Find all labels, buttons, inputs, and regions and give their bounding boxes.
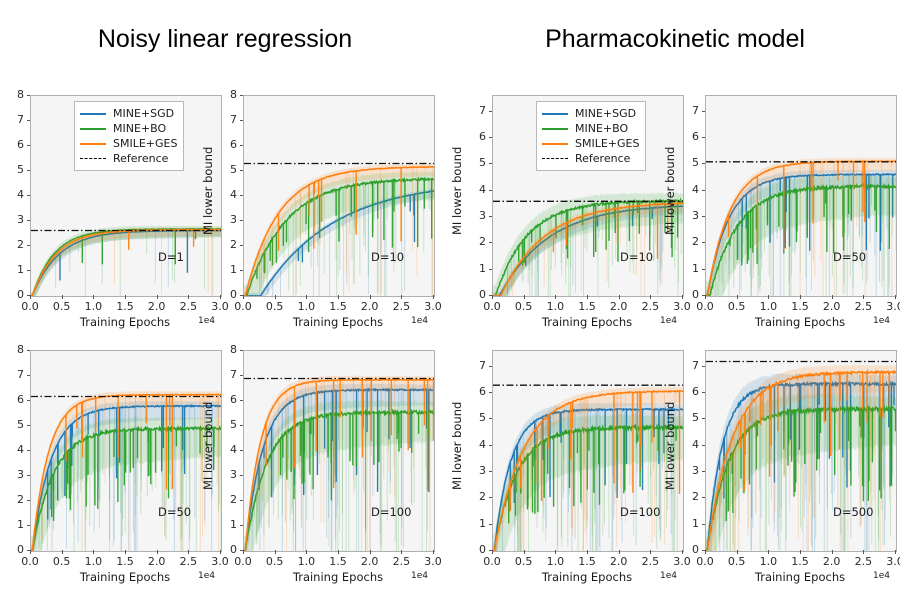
x-tick-label: 0.0 bbox=[690, 555, 720, 568]
x-axis-label: Training Epochs bbox=[243, 570, 433, 584]
y-tick-label: 6 bbox=[679, 130, 699, 143]
y-tick-mark bbox=[702, 111, 706, 112]
curves-layer bbox=[706, 351, 896, 551]
y-tick-mark bbox=[702, 216, 706, 217]
x-tick-label: 1.0 bbox=[753, 555, 783, 568]
y-tick-mark bbox=[240, 145, 244, 146]
x-tick-label: 1.5 bbox=[323, 555, 353, 568]
group-title-noisy-linear-regression: Noisy linear regression bbox=[0, 25, 450, 54]
x-tick-label: 1.0 bbox=[540, 300, 570, 313]
x-tick-mark bbox=[157, 550, 158, 554]
y-tick-label: 4 bbox=[217, 443, 237, 456]
x-tick-label: 1.0 bbox=[753, 300, 783, 313]
y-tick-label: 4 bbox=[466, 183, 486, 196]
y-tick-label: 7 bbox=[679, 359, 699, 372]
x-tick-label: 2.5 bbox=[635, 555, 665, 568]
y-tick-label: 5 bbox=[4, 163, 24, 176]
x-tick-label: 1.0 bbox=[291, 555, 321, 568]
y-axis-label: MI lower bound bbox=[663, 147, 677, 235]
plot-area bbox=[705, 95, 897, 297]
y-tick-mark bbox=[489, 242, 493, 243]
y-tick-mark bbox=[240, 170, 244, 171]
x-axis-label: Training Epochs bbox=[705, 570, 895, 584]
legend-swatch-icon bbox=[542, 138, 568, 149]
x-axis-label: Training Epochs bbox=[492, 315, 682, 329]
y-tick-mark bbox=[702, 366, 706, 367]
y-tick-label: 1 bbox=[217, 518, 237, 531]
y-tick-mark bbox=[27, 350, 31, 351]
legend: MINE+SGDMINE+BOSMILE+GESReference bbox=[74, 101, 184, 171]
x-tick-mark bbox=[492, 550, 493, 554]
y-tick-mark bbox=[240, 350, 244, 351]
x-tick-mark bbox=[524, 550, 525, 554]
y-tick-mark bbox=[240, 245, 244, 246]
x-tick-mark bbox=[62, 550, 63, 554]
x-tick-label: 3.0 bbox=[418, 555, 448, 568]
x-axis-exponent: 1e4 bbox=[873, 316, 890, 326]
curves-layer bbox=[493, 351, 683, 551]
y-tick-mark bbox=[27, 245, 31, 246]
y-tick-mark bbox=[27, 195, 31, 196]
dimension-annotation: D=10 bbox=[371, 250, 404, 264]
x-tick-mark bbox=[93, 550, 94, 554]
legend-item-mine-bo[interactable]: MINE+BO bbox=[542, 121, 639, 136]
y-tick-label: 2 bbox=[4, 493, 24, 506]
x-tick-mark bbox=[524, 295, 525, 299]
y-tick-label: 6 bbox=[217, 393, 237, 406]
x-tick-label: 0.5 bbox=[509, 300, 539, 313]
x-tick-mark bbox=[650, 550, 651, 554]
x-tick-mark bbox=[433, 550, 434, 554]
x-tick-mark bbox=[832, 550, 833, 554]
y-tick-label: 1 bbox=[679, 262, 699, 275]
plot-area bbox=[243, 350, 435, 552]
y-tick-label: 2 bbox=[679, 490, 699, 503]
y-tick-label: 7 bbox=[217, 113, 237, 126]
y-tick-mark bbox=[489, 163, 493, 164]
x-tick-label: 0.0 bbox=[228, 300, 258, 313]
x-axis-label: Training Epochs bbox=[705, 315, 895, 329]
legend-swatch-icon bbox=[542, 108, 568, 119]
y-tick-label: 8 bbox=[4, 88, 24, 101]
y-tick-mark bbox=[240, 450, 244, 451]
y-tick-mark bbox=[240, 120, 244, 121]
legend-swatch-icon bbox=[542, 123, 568, 134]
y-tick-mark bbox=[489, 445, 493, 446]
y-tick-label: 4 bbox=[679, 438, 699, 451]
x-tick-mark bbox=[619, 550, 620, 554]
y-tick-mark bbox=[240, 475, 244, 476]
x-axis-exponent: 1e4 bbox=[198, 316, 215, 326]
plot-area bbox=[492, 350, 684, 552]
y-tick-label: 1 bbox=[217, 263, 237, 276]
x-tick-mark bbox=[737, 295, 738, 299]
dimension-annotation: D=100 bbox=[620, 505, 660, 519]
x-tick-label: 1.5 bbox=[110, 300, 140, 313]
y-tick-mark bbox=[489, 524, 493, 525]
y-axis-label: MI lower bound bbox=[201, 402, 215, 490]
x-axis-exponent: 1e4 bbox=[873, 571, 890, 581]
y-tick-mark bbox=[702, 242, 706, 243]
x-tick-label: 1.5 bbox=[572, 300, 602, 313]
x-tick-label: 1.5 bbox=[110, 555, 140, 568]
y-tick-mark bbox=[489, 190, 493, 191]
x-tick-label: 2.0 bbox=[142, 555, 172, 568]
x-tick-label: 0.5 bbox=[260, 555, 290, 568]
dimension-annotation: D=50 bbox=[833, 250, 866, 264]
y-tick-mark bbox=[27, 475, 31, 476]
y-tick-mark bbox=[489, 366, 493, 367]
y-tick-mark bbox=[27, 270, 31, 271]
x-tick-label: 2.0 bbox=[604, 555, 634, 568]
x-axis-label: Training Epochs bbox=[30, 315, 220, 329]
y-tick-label: 7 bbox=[217, 368, 237, 381]
x-tick-mark bbox=[275, 295, 276, 299]
y-tick-label: 1 bbox=[679, 517, 699, 530]
x-tick-mark bbox=[555, 295, 556, 299]
y-tick-label: 7 bbox=[4, 113, 24, 126]
legend-swatch-icon bbox=[80, 138, 106, 149]
y-axis-label: MI lower bound bbox=[450, 147, 464, 235]
x-tick-label: 2.0 bbox=[142, 300, 172, 313]
y-tick-mark bbox=[240, 525, 244, 526]
y-tick-mark bbox=[489, 471, 493, 472]
y-tick-label: 2 bbox=[466, 235, 486, 248]
legend-item-mine-bo[interactable]: MINE+BO bbox=[80, 121, 177, 136]
x-axis-exponent: 1e4 bbox=[411, 571, 428, 581]
legend-label: Reference bbox=[113, 153, 168, 164]
x-tick-label: 2.5 bbox=[386, 555, 416, 568]
x-tick-mark bbox=[433, 295, 434, 299]
y-tick-mark bbox=[702, 445, 706, 446]
x-tick-label: 0.0 bbox=[477, 300, 507, 313]
y-tick-mark bbox=[702, 524, 706, 525]
y-tick-mark bbox=[702, 137, 706, 138]
x-tick-mark bbox=[650, 295, 651, 299]
y-tick-mark bbox=[489, 269, 493, 270]
y-axis-label: MI lower bound bbox=[201, 147, 215, 235]
y-tick-label: 7 bbox=[679, 104, 699, 117]
x-axis-exponent: 1e4 bbox=[660, 316, 677, 326]
plot-area bbox=[30, 350, 222, 552]
y-tick-mark bbox=[702, 497, 706, 498]
x-tick-label: 1.0 bbox=[78, 555, 108, 568]
y-tick-label: 3 bbox=[4, 213, 24, 226]
dimension-annotation: D=500 bbox=[833, 505, 873, 519]
x-tick-mark bbox=[895, 550, 896, 554]
plot-area bbox=[705, 350, 897, 552]
y-tick-label: 3 bbox=[217, 213, 237, 226]
y-tick-mark bbox=[240, 195, 244, 196]
legend-label: MINE+SGD bbox=[113, 108, 174, 119]
y-tick-label: 5 bbox=[679, 156, 699, 169]
legend-item-mine-sgd[interactable]: MINE+SGD bbox=[80, 106, 177, 121]
y-tick-label: 3 bbox=[679, 464, 699, 477]
legend-item-reference[interactable]: Reference bbox=[80, 151, 177, 166]
x-tick-label: 2.0 bbox=[355, 555, 385, 568]
y-tick-label: 7 bbox=[466, 359, 486, 372]
legend-label: MINE+BO bbox=[113, 123, 166, 134]
y-tick-label: 1 bbox=[466, 517, 486, 530]
x-tick-label: 0.5 bbox=[722, 300, 752, 313]
x-tick-label: 2.0 bbox=[817, 300, 847, 313]
y-tick-mark bbox=[240, 425, 244, 426]
y-axis-label: MI lower bound bbox=[450, 402, 464, 490]
x-tick-label: 0.0 bbox=[690, 300, 720, 313]
legend: MINE+SGDMINE+BOSMILE+GESReference bbox=[536, 101, 646, 171]
y-tick-mark bbox=[27, 220, 31, 221]
x-tick-label: 1.0 bbox=[78, 300, 108, 313]
x-tick-label: 2.0 bbox=[355, 300, 385, 313]
x-tick-mark bbox=[555, 550, 556, 554]
x-tick-mark bbox=[157, 295, 158, 299]
x-tick-mark bbox=[705, 550, 706, 554]
y-tick-mark bbox=[240, 400, 244, 401]
y-tick-label: 3 bbox=[466, 209, 486, 222]
y-tick-label: 7 bbox=[466, 104, 486, 117]
legend-label: MINE+BO bbox=[575, 123, 628, 134]
y-tick-label: 3 bbox=[466, 464, 486, 477]
legend-swatch-icon bbox=[542, 153, 568, 164]
x-tick-mark bbox=[30, 295, 31, 299]
x-tick-label: 3.0 bbox=[418, 300, 448, 313]
y-tick-mark bbox=[27, 95, 31, 96]
y-tick-label: 4 bbox=[679, 183, 699, 196]
y-tick-mark bbox=[240, 500, 244, 501]
y-tick-mark bbox=[702, 190, 706, 191]
y-tick-label: 8 bbox=[217, 88, 237, 101]
y-tick-label: 1 bbox=[4, 518, 24, 531]
x-tick-mark bbox=[768, 295, 769, 299]
figure-root: Noisy linear regression Pharmacokinetic … bbox=[0, 0, 900, 600]
x-tick-label: 0.5 bbox=[47, 555, 77, 568]
x-tick-label: 2.5 bbox=[848, 300, 878, 313]
y-axis-label: MI lower bound bbox=[0, 147, 2, 235]
plot-area bbox=[243, 95, 435, 297]
x-tick-label: 0.5 bbox=[722, 555, 752, 568]
legend-label: SMILE+GES bbox=[113, 138, 177, 149]
y-tick-label: 1 bbox=[4, 263, 24, 276]
y-tick-label: 5 bbox=[217, 163, 237, 176]
y-tick-mark bbox=[27, 425, 31, 426]
curves-layer bbox=[31, 351, 221, 551]
x-tick-mark bbox=[863, 550, 864, 554]
x-tick-label: 1.0 bbox=[291, 300, 321, 313]
x-tick-label: 3.0 bbox=[880, 300, 900, 313]
legend-item-smile-ges[interactable]: SMILE+GES bbox=[80, 136, 177, 151]
y-tick-label: 2 bbox=[466, 490, 486, 503]
y-tick-mark bbox=[27, 375, 31, 376]
y-tick-mark bbox=[702, 471, 706, 472]
x-tick-mark bbox=[275, 550, 276, 554]
y-tick-mark bbox=[489, 216, 493, 217]
y-tick-mark bbox=[489, 418, 493, 419]
y-tick-label: 8 bbox=[4, 343, 24, 356]
y-tick-label: 5 bbox=[466, 411, 486, 424]
x-tick-mark bbox=[619, 295, 620, 299]
x-tick-mark bbox=[125, 295, 126, 299]
dimension-annotation: D=10 bbox=[620, 250, 653, 264]
y-tick-label: 2 bbox=[4, 238, 24, 251]
y-tick-label: 5 bbox=[4, 418, 24, 431]
x-tick-label: 0.5 bbox=[509, 555, 539, 568]
y-tick-mark bbox=[27, 500, 31, 501]
x-tick-mark bbox=[401, 550, 402, 554]
group-title-pharmacokinetic-model: Pharmacokinetic model bbox=[450, 25, 900, 54]
x-tick-mark bbox=[800, 550, 801, 554]
y-tick-mark bbox=[702, 269, 706, 270]
x-tick-mark bbox=[338, 295, 339, 299]
y-tick-label: 1 bbox=[466, 262, 486, 275]
x-tick-mark bbox=[401, 295, 402, 299]
y-tick-mark bbox=[27, 145, 31, 146]
x-tick-mark bbox=[370, 550, 371, 554]
y-tick-label: 2 bbox=[217, 493, 237, 506]
x-tick-mark bbox=[895, 295, 896, 299]
y-tick-label: 5 bbox=[217, 418, 237, 431]
y-tick-label: 6 bbox=[4, 393, 24, 406]
legend-item-mine-sgd[interactable]: MINE+SGD bbox=[542, 106, 639, 121]
legend-swatch-icon bbox=[80, 108, 106, 119]
curves-layer bbox=[706, 96, 896, 296]
y-tick-label: 2 bbox=[217, 238, 237, 251]
y-tick-label: 7 bbox=[4, 368, 24, 381]
x-tick-mark bbox=[768, 550, 769, 554]
y-tick-label: 3 bbox=[217, 468, 237, 481]
y-tick-mark bbox=[240, 220, 244, 221]
y-tick-mark bbox=[702, 418, 706, 419]
y-tick-mark bbox=[27, 400, 31, 401]
x-tick-label: 2.0 bbox=[604, 300, 634, 313]
x-tick-mark bbox=[62, 295, 63, 299]
y-tick-label: 3 bbox=[4, 468, 24, 481]
x-tick-mark bbox=[188, 550, 189, 554]
x-axis-label: Training Epochs bbox=[243, 315, 433, 329]
y-tick-label: 5 bbox=[466, 156, 486, 169]
y-tick-mark bbox=[240, 270, 244, 271]
x-tick-mark bbox=[370, 295, 371, 299]
legend-label: Reference bbox=[575, 153, 630, 164]
x-tick-label: 1.5 bbox=[785, 300, 815, 313]
x-tick-mark bbox=[306, 550, 307, 554]
y-tick-mark bbox=[489, 497, 493, 498]
x-tick-label: 2.0 bbox=[817, 555, 847, 568]
y-tick-label: 4 bbox=[4, 188, 24, 201]
y-tick-mark bbox=[702, 163, 706, 164]
legend-swatch-icon bbox=[80, 153, 106, 164]
x-tick-mark bbox=[492, 295, 493, 299]
x-axis-label: Training Epochs bbox=[492, 570, 682, 584]
y-tick-mark bbox=[27, 525, 31, 526]
x-tick-mark bbox=[800, 295, 801, 299]
x-axis-exponent: 1e4 bbox=[198, 571, 215, 581]
y-tick-label: 4 bbox=[466, 438, 486, 451]
x-tick-mark bbox=[832, 295, 833, 299]
y-tick-label: 2 bbox=[679, 235, 699, 248]
x-tick-mark bbox=[587, 550, 588, 554]
x-tick-mark bbox=[243, 295, 244, 299]
y-tick-mark bbox=[240, 375, 244, 376]
x-tick-mark bbox=[93, 295, 94, 299]
x-tick-label: 2.5 bbox=[173, 555, 203, 568]
x-tick-mark bbox=[30, 550, 31, 554]
x-tick-label: 0.0 bbox=[477, 555, 507, 568]
y-tick-label: 6 bbox=[466, 385, 486, 398]
y-tick-label: 3 bbox=[679, 209, 699, 222]
x-axis-exponent: 1e4 bbox=[660, 571, 677, 581]
y-tick-mark bbox=[489, 137, 493, 138]
x-tick-label: 1.5 bbox=[785, 555, 815, 568]
legend-label: SMILE+GES bbox=[575, 138, 639, 149]
x-tick-label: 1.0 bbox=[540, 555, 570, 568]
x-axis-exponent: 1e4 bbox=[411, 316, 428, 326]
y-tick-label: 6 bbox=[466, 130, 486, 143]
curves-layer bbox=[244, 96, 434, 296]
x-tick-label: 0.5 bbox=[260, 300, 290, 313]
y-tick-label: 5 bbox=[679, 411, 699, 424]
y-tick-mark bbox=[27, 170, 31, 171]
y-tick-mark bbox=[27, 120, 31, 121]
x-tick-label: 3.0 bbox=[880, 555, 900, 568]
x-tick-label: 2.5 bbox=[173, 300, 203, 313]
y-tick-mark bbox=[27, 450, 31, 451]
dimension-annotation: D=50 bbox=[158, 505, 191, 519]
x-tick-mark bbox=[737, 550, 738, 554]
y-tick-mark bbox=[702, 392, 706, 393]
dimension-annotation: D=1 bbox=[158, 250, 184, 264]
y-tick-label: 6 bbox=[217, 138, 237, 151]
y-axis-label: MI lower bound bbox=[0, 402, 2, 490]
x-tick-mark bbox=[587, 295, 588, 299]
x-tick-label: 0.0 bbox=[15, 300, 45, 313]
y-tick-label: 8 bbox=[217, 343, 237, 356]
x-tick-label: 2.5 bbox=[386, 300, 416, 313]
legend-swatch-icon bbox=[80, 123, 106, 134]
curves-layer bbox=[244, 351, 434, 551]
x-tick-label: 2.5 bbox=[848, 555, 878, 568]
y-tick-label: 6 bbox=[679, 385, 699, 398]
x-tick-label: 0.5 bbox=[47, 300, 77, 313]
dimension-annotation: D=100 bbox=[371, 505, 411, 519]
y-axis-label: MI lower bound bbox=[663, 402, 677, 490]
y-tick-mark bbox=[240, 95, 244, 96]
x-axis-label: Training Epochs bbox=[30, 570, 220, 584]
y-tick-label: 6 bbox=[4, 138, 24, 151]
legend-label: MINE+SGD bbox=[575, 108, 636, 119]
x-tick-mark bbox=[863, 295, 864, 299]
legend-item-smile-ges[interactable]: SMILE+GES bbox=[542, 136, 639, 151]
y-tick-label: 4 bbox=[217, 188, 237, 201]
x-tick-mark bbox=[125, 550, 126, 554]
legend-item-reference[interactable]: Reference bbox=[542, 151, 639, 166]
x-tick-mark bbox=[338, 550, 339, 554]
x-tick-mark bbox=[188, 295, 189, 299]
y-tick-mark bbox=[489, 392, 493, 393]
x-tick-label: 1.5 bbox=[572, 555, 602, 568]
x-tick-label: 0.0 bbox=[228, 555, 258, 568]
x-tick-mark bbox=[243, 550, 244, 554]
x-tick-mark bbox=[306, 295, 307, 299]
x-tick-label: 1.5 bbox=[323, 300, 353, 313]
x-tick-mark bbox=[705, 295, 706, 299]
y-tick-label: 4 bbox=[4, 443, 24, 456]
y-tick-mark bbox=[489, 111, 493, 112]
x-tick-label: 2.5 bbox=[635, 300, 665, 313]
x-tick-label: 0.0 bbox=[15, 555, 45, 568]
